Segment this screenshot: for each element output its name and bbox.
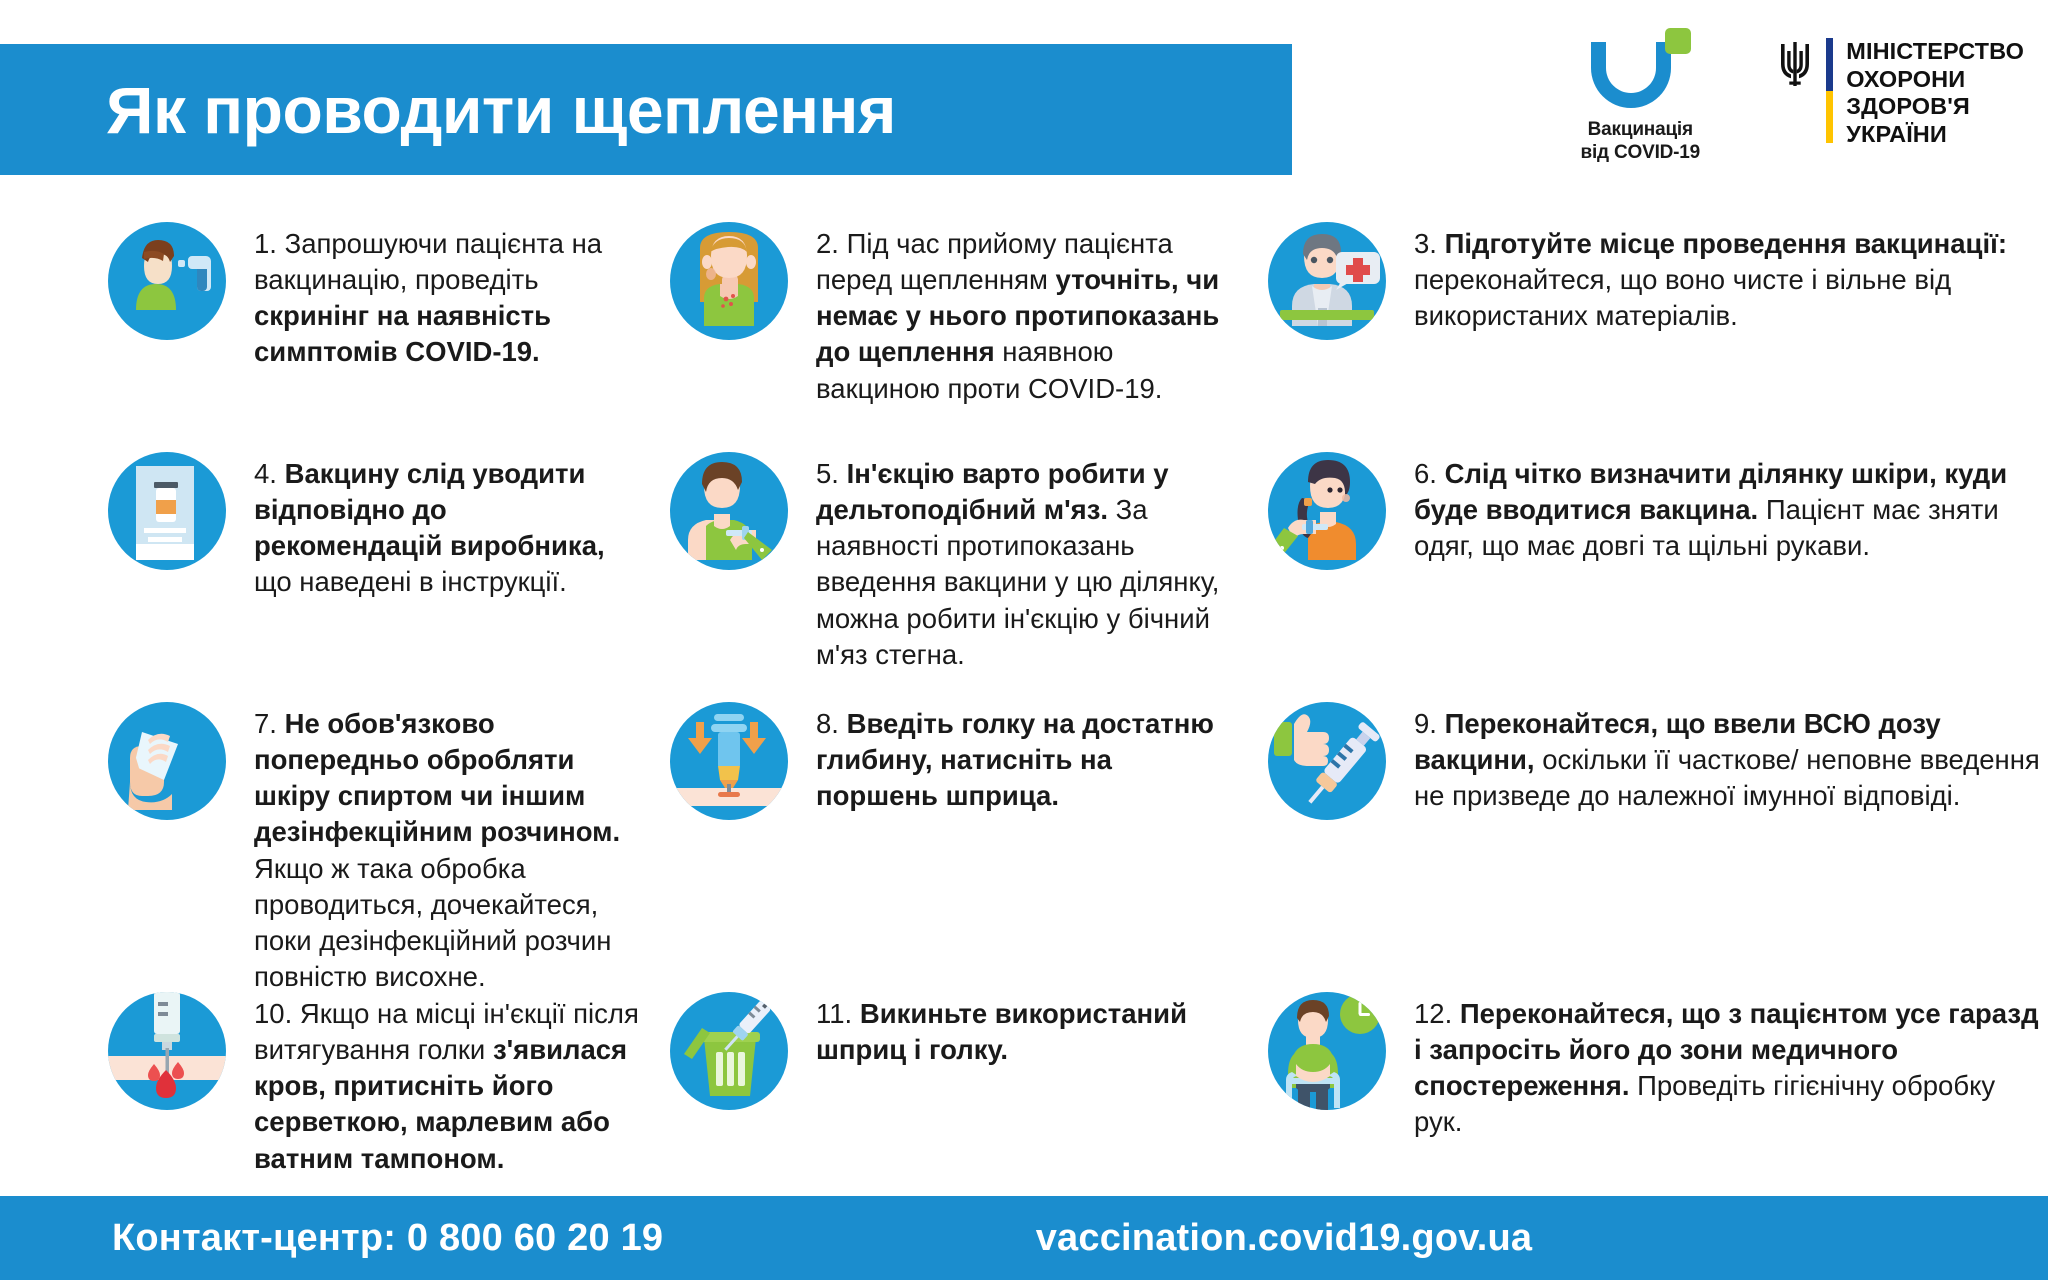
step-number: 1. [254, 228, 277, 259]
step-number: 10. [254, 998, 292, 1029]
step-text-emphasis: скринінг на наявність симптомів COVID-19… [254, 300, 551, 367]
step-6-icon-wrap [1268, 452, 1392, 570]
step-5-icon-wrap [670, 452, 794, 570]
vaccine-vial-icon [108, 452, 226, 570]
step-5-text: 5. Ін'єкцію варто робити у дельтоподібни… [816, 452, 1240, 673]
ministry-line4: УКРАЇНИ [1846, 121, 2024, 149]
step-item-6: 6. Слід чітко визначити ділянку шкіри, к… [1240, 452, 2048, 702]
vaccination-logo-line1: Вакцинація [1581, 118, 1701, 141]
step-text-emphasis: Вакцину слід уводити відповідно до реком… [254, 458, 605, 561]
step-item-3: 3. Підготуйте місце проведення вакцинаці… [1240, 222, 2048, 452]
step-9-text: 9. Переконайтеся, що ввели ВСЮ дозу вакц… [1414, 702, 2048, 814]
website-link[interactable]: vaccination.covid19.gov.ua [0, 1217, 2048, 1260]
needle-depth-icon [670, 702, 788, 820]
step-number: 8. [816, 708, 839, 739]
step-1-icon-wrap [108, 222, 232, 340]
ministry-line3: ЗДОРОВ'Я [1846, 93, 2024, 121]
step-9-icon-wrap [1268, 702, 1392, 820]
footer-bar: Контакт-центр: 0 800 60 20 19 vaccinatio… [0, 1196, 2048, 1280]
step-text-emphasis: Викиньте використаний шприц і голку. [816, 998, 1187, 1065]
patient-symptoms-icon [670, 222, 788, 340]
step-text-plain: Запрошуючи пацієнта на вакцинацію, прове… [254, 228, 602, 295]
step-number: 7. [254, 708, 277, 739]
observation-waiting-icon [1268, 992, 1386, 1110]
step-text-emphasis: Підготуйте місце проведення вакцинації: [1437, 228, 2007, 259]
step-number: 2. [816, 228, 839, 259]
ministry-of-health-logo: МІНІСТЕРСТВО ОХОРОНИ ЗДОРОВ'Я УКРАЇНИ [1777, 28, 2024, 149]
step-number: 9. [1414, 708, 1437, 739]
infographic-page: Як проводити щеплення Вакцинація від COV… [0, 0, 2048, 1280]
step-11-text: 11. Викиньте використаний шприц і голку. [816, 992, 1240, 1068]
step-10-text: 10. Якщо на місці ін'єкції після витягув… [254, 992, 640, 1177]
step-item-9: 9. Переконайтеся, що ввели ВСЮ дозу вакц… [1240, 702, 2048, 992]
step-3-icon-wrap [1268, 222, 1392, 340]
ministry-line2: ОХОРОНИ [1846, 66, 2024, 94]
step-12-icon-wrap [1268, 992, 1392, 1110]
bleeding-site-icon [108, 992, 226, 1110]
step-10-icon-wrap [108, 992, 232, 1110]
step-2-text: 2. Під час прийому пацієнта перед щеплен… [816, 222, 1240, 407]
ukraine-trident-icon [1777, 38, 1813, 90]
step-3-text: 3. Підготуйте місце проведення вакцинаці… [1414, 222, 2048, 334]
logo-group: Вакцинація від COVID-19 МІНІСТЕРСТВО [1545, 28, 2024, 164]
step-6-text: 6. Слід чітко визначити ділянку шкіри, к… [1414, 452, 2048, 564]
flag-divider [1826, 38, 1833, 143]
page-title: Як проводити щеплення [0, 72, 896, 148]
steps-row-2: 4. Вакцину слід уводити відповідно до ре… [0, 452, 2048, 702]
steps-row-3: 7. Не обов'язково попередньо обробляти ш… [0, 702, 2048, 992]
thumbs-up-syringe-icon [1268, 702, 1386, 820]
step-2-icon-wrap [670, 222, 794, 340]
step-number: 5. [816, 458, 839, 489]
step-text-emphasis: Не обов'язково попередньо обробляти шкір… [254, 708, 620, 847]
step-item-2: 2. Під час прийому пацієнта перед щеплен… [640, 222, 1240, 452]
step-number: 6. [1414, 458, 1437, 489]
doctor-icon [1268, 222, 1386, 340]
vaccination-v-mark-icon [1585, 28, 1695, 110]
step-number: 3. [1414, 228, 1437, 259]
skin-swab-icon [108, 702, 226, 820]
vaccination-logo: Вакцинація від COVID-19 [1545, 28, 1735, 164]
dispose-syringe-icon [670, 992, 788, 1110]
step-item-5: 5. Ін'єкцію варто робити у дельтоподібни… [640, 452, 1240, 702]
thermometer-screening-icon [108, 222, 226, 340]
step-item-8: 8. Введіть голку на достатню глибину, на… [640, 702, 1240, 992]
ministry-line1: МІНІСТЕРСТВО [1846, 38, 2024, 66]
step-1-text: 1. Запрошуючи пацієнта на вакцинацію, пр… [254, 222, 640, 371]
step-text-plain: Якщо ж така обробка проводиться, дочекай… [254, 853, 611, 992]
step-item-7: 7. Не обов'язково попередньо обробляти ш… [0, 702, 640, 992]
step-12-text: 12. Переконайтеся, що з пацієнтом усе га… [1414, 992, 2048, 1141]
steps-row-1: 1. Запрошуючи пацієнта на вакцинацію, пр… [0, 222, 2048, 452]
step-text-emphasis: Введіть голку на достатню глибину, натис… [816, 708, 1214, 811]
step-8-icon-wrap [670, 702, 794, 820]
step-text-plain: переконайтеся, що воно чисте і вільне ві… [1414, 264, 1951, 331]
steps-grid: 1. Запрошуючи пацієнта на вакцинацію, пр… [0, 222, 2048, 1232]
step-number: 11. [816, 998, 852, 1029]
ministry-logo-text: МІНІСТЕРСТВО ОХОРОНИ ЗДОРОВ'Я УКРАЇНИ [1846, 38, 2024, 149]
step-item-4: 4. Вакцину слід уводити відповідно до ре… [0, 452, 640, 702]
vaccination-logo-text: Вакцинація від COVID-19 [1581, 118, 1701, 164]
step-number: 4. [254, 458, 277, 489]
step-4-text: 4. Вакцину слід уводити відповідно до ре… [254, 452, 640, 601]
step-7-icon-wrap [108, 702, 232, 820]
step-text-plain: що наведені в інструкції. [254, 566, 567, 597]
step-4-icon-wrap [108, 452, 232, 570]
deltoid-injection-icon [670, 452, 788, 570]
vaccination-logo-line2: від COVID-19 [1581, 141, 1701, 164]
step-11-icon-wrap [670, 992, 794, 1110]
step-number: 12. [1414, 998, 1452, 1029]
step-8-text: 8. Введіть голку на достатню глибину, на… [816, 702, 1240, 814]
step-7-text: 7. Не обов'язково попередньо обробляти ш… [254, 702, 640, 995]
skin-site-injection-icon [1268, 452, 1386, 570]
header-banner: Як проводити щеплення [0, 44, 1292, 175]
step-item-1: 1. Запрошуючи пацієнта на вакцинацію, пр… [0, 222, 640, 452]
